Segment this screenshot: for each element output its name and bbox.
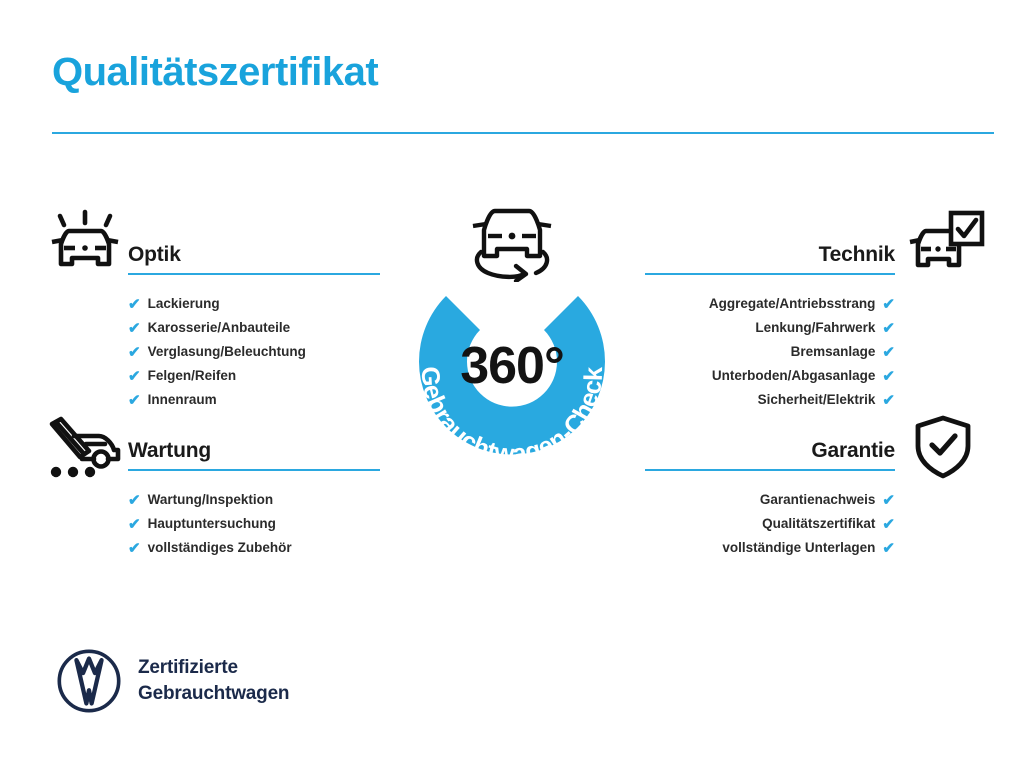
list-item-label: vollständiges Zubehör bbox=[148, 536, 292, 560]
check-icon: ✔ bbox=[128, 393, 141, 408]
badge-center-label: 360° bbox=[378, 336, 646, 396]
list-item-label: Qualitätszertifikat bbox=[762, 512, 875, 536]
check-icon: ✔ bbox=[882, 321, 895, 336]
list-item-label: Garantienachweis bbox=[760, 488, 876, 512]
list-item: Lenkung/Fahrwerk✔ bbox=[645, 316, 895, 340]
list-item-label: Sicherheit/Elektrik bbox=[758, 388, 876, 412]
section-underline-wartung bbox=[128, 469, 380, 471]
list-item: ✔Felgen/Reifen bbox=[128, 364, 380, 388]
section-underline-technik bbox=[645, 273, 895, 275]
list-item: ✔Innenraum bbox=[128, 388, 380, 412]
list-item: Aggregate/Antriebsstrang✔ bbox=[645, 292, 895, 316]
section-garantie: GarantieGarantienachweis✔Qualitätszertif… bbox=[645, 436, 895, 560]
checklist-optik: ✔Lackierung✔Karosserie/Anbauteile✔Vergla… bbox=[128, 292, 380, 412]
section-header-optik: Optik bbox=[128, 240, 380, 280]
check-icon: ✔ bbox=[128, 541, 141, 556]
list-item: ✔Wartung/Inspektion bbox=[128, 488, 380, 512]
list-item: ✔vollständiges Zubehör bbox=[128, 536, 380, 560]
car-service-pen-icon bbox=[42, 414, 128, 485]
list-item: ✔Karosserie/Anbauteile bbox=[128, 316, 380, 340]
section-title-garantie: Garantie bbox=[645, 436, 895, 466]
car-shine-icon bbox=[46, 208, 124, 281]
check-icon: ✔ bbox=[882, 541, 895, 556]
list-item: Sicherheit/Elektrik✔ bbox=[645, 388, 895, 412]
checklist-garantie: Garantienachweis✔Qualitätszertifikat✔vol… bbox=[645, 488, 895, 560]
section-header-technik: Technik bbox=[645, 240, 895, 280]
list-item-label: Aggregate/Antriebsstrang bbox=[709, 292, 876, 316]
list-item-label: Verglasung/Beleuchtung bbox=[148, 340, 306, 364]
section-optik: Optik✔Lackierung✔Karosserie/Anbauteile✔V… bbox=[128, 240, 380, 412]
check-icon: ✔ bbox=[882, 369, 895, 384]
section-underline-optik bbox=[128, 273, 380, 275]
list-item-label: Karosserie/Anbauteile bbox=[148, 316, 291, 340]
badge-360-check: Gebrauchtwagen-Check 360° bbox=[378, 252, 646, 492]
section-header-garantie: Garantie bbox=[645, 436, 895, 476]
list-item: ✔Verglasung/Beleuchtung bbox=[128, 340, 380, 364]
list-item: Qualitätszertifikat✔ bbox=[645, 512, 895, 536]
list-item-label: Hauptuntersuchung bbox=[148, 512, 276, 536]
check-icon: ✔ bbox=[882, 345, 895, 360]
check-icon: ✔ bbox=[128, 493, 141, 508]
section-header-wartung: Wartung bbox=[128, 436, 380, 476]
checklist-technik: Aggregate/Antriebsstrang✔Lenkung/Fahrwer… bbox=[645, 292, 895, 412]
check-icon: ✔ bbox=[882, 517, 895, 532]
car-rotate-icon bbox=[462, 198, 562, 282]
section-title-wartung: Wartung bbox=[128, 436, 380, 466]
title-divider bbox=[52, 132, 994, 134]
vw-logo bbox=[56, 648, 122, 714]
section-wartung: Wartung✔Wartung/Inspektion✔Hauptuntersuc… bbox=[128, 436, 380, 560]
list-item-label: Unterboden/Abgasanlage bbox=[712, 364, 876, 388]
list-item-label: Innenraum bbox=[148, 388, 217, 412]
section-title-technik: Technik bbox=[645, 240, 895, 270]
check-icon: ✔ bbox=[882, 297, 895, 312]
check-icon: ✔ bbox=[128, 297, 141, 312]
check-icon: ✔ bbox=[128, 517, 141, 532]
list-item-label: Wartung/Inspektion bbox=[148, 488, 274, 512]
list-item: ✔Hauptuntersuchung bbox=[128, 512, 380, 536]
list-item: Garantienachweis✔ bbox=[645, 488, 895, 512]
list-item-label: Lackierung bbox=[148, 292, 220, 316]
footer-line-2: Gebrauchtwagen bbox=[138, 681, 289, 707]
check-icon: ✔ bbox=[128, 345, 141, 360]
list-item: Unterboden/Abgasanlage✔ bbox=[645, 364, 895, 388]
check-icon: ✔ bbox=[128, 321, 141, 336]
checklist-wartung: ✔Wartung/Inspektion✔Hauptuntersuchung✔vo… bbox=[128, 488, 380, 560]
page-title: Qualitätszertifikat bbox=[52, 50, 378, 94]
shield-check-icon bbox=[912, 414, 974, 485]
list-item-label: Lenkung/Fahrwerk bbox=[755, 316, 875, 340]
check-icon: ✔ bbox=[128, 369, 141, 384]
list-item-label: Bremsanlage bbox=[791, 340, 876, 364]
footer-brand: Zertifizierte Gebrauchtwagen bbox=[56, 648, 289, 714]
footer-text: Zertifizierte Gebrauchtwagen bbox=[138, 655, 289, 707]
list-item-label: vollständige Unterlagen bbox=[722, 536, 875, 560]
section-title-optik: Optik bbox=[128, 240, 380, 270]
section-underline-garantie bbox=[645, 469, 895, 471]
section-technik: TechnikAggregate/Antriebsstrang✔Lenkung/… bbox=[645, 240, 895, 412]
footer-line-1: Zertifizierte bbox=[138, 655, 289, 681]
list-item: ✔Lackierung bbox=[128, 292, 380, 316]
check-icon: ✔ bbox=[882, 493, 895, 508]
certificate-page: Qualitätszertifikat bbox=[0, 0, 1024, 768]
car-checkbox-icon bbox=[906, 208, 986, 281]
check-icon: ✔ bbox=[882, 393, 895, 408]
list-item: vollständige Unterlagen✔ bbox=[645, 536, 895, 560]
list-item-label: Felgen/Reifen bbox=[148, 364, 237, 388]
list-item: Bremsanlage✔ bbox=[645, 340, 895, 364]
